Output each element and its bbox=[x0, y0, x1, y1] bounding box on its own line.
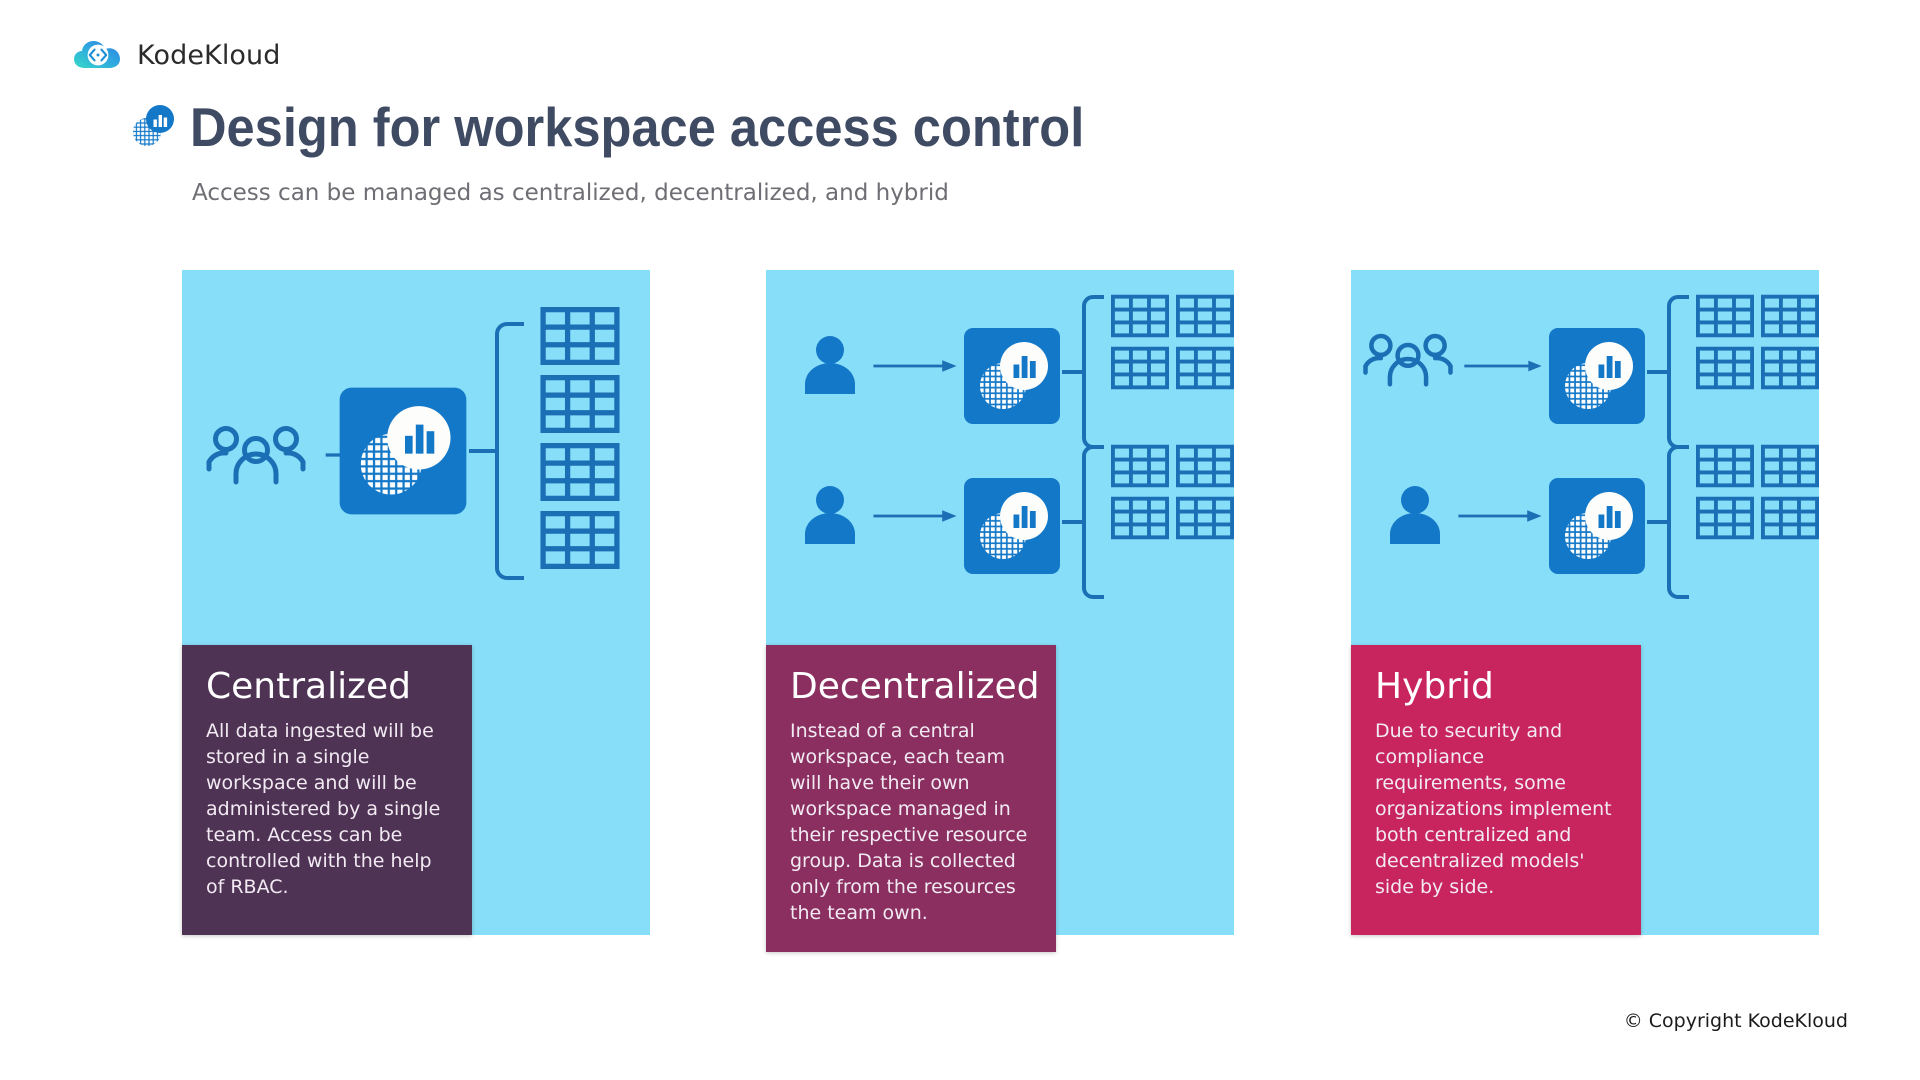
table-icon bbox=[1763, 349, 1817, 388]
brand-name: KodeKloud bbox=[137, 40, 281, 71]
table-icon bbox=[1763, 297, 1817, 336]
card-body: Due to security and compliance requireme… bbox=[1375, 718, 1617, 900]
fan-out-bracket bbox=[469, 324, 524, 578]
flow-arrow-icon bbox=[1464, 361, 1541, 372]
fan-out-bracket bbox=[1647, 447, 1689, 597]
fan-out-bracket bbox=[1062, 297, 1104, 447]
user-group-icon bbox=[209, 429, 303, 483]
brand-logo-group: KodeKloud bbox=[72, 32, 281, 78]
single-user-icon bbox=[1390, 486, 1440, 544]
flow-arrow-icon bbox=[1458, 510, 1541, 521]
page-title-row: Design for workspace access control bbox=[128, 97, 1162, 157]
table-icon bbox=[543, 446, 617, 499]
table-icon bbox=[1178, 499, 1232, 538]
single-user-icon bbox=[805, 336, 855, 394]
info-card-hybrid: Hybrid Due to security and compliance re… bbox=[1351, 645, 1641, 935]
page-subtitle: Access can be managed as centralized, de… bbox=[192, 180, 949, 206]
workspace-tile-icon bbox=[964, 478, 1060, 574]
table-icon bbox=[1178, 447, 1232, 486]
workspace-tile-icon bbox=[1549, 328, 1645, 424]
table-icon bbox=[543, 310, 617, 363]
table-icon bbox=[1698, 499, 1752, 538]
info-card-centralized: Centralized All data ingested will be st… bbox=[182, 645, 472, 935]
table-icon bbox=[543, 514, 617, 567]
single-user-icon bbox=[805, 486, 855, 544]
card-title: Decentralized bbox=[790, 666, 1032, 708]
table-icon bbox=[1178, 349, 1232, 388]
flow-arrow-icon bbox=[873, 360, 956, 371]
workspace-tile-icon bbox=[340, 388, 467, 515]
table-icon bbox=[543, 378, 617, 431]
kodekloud-cloud-code-logo-icon bbox=[72, 35, 124, 75]
user-group-icon bbox=[1366, 336, 1451, 384]
table-icon bbox=[1763, 499, 1817, 538]
table-icon bbox=[1178, 297, 1232, 336]
log-analytics-workspace-icon bbox=[128, 102, 178, 152]
card-title: Centralized bbox=[206, 666, 448, 708]
workspace-tile-icon bbox=[964, 328, 1060, 424]
diagram-decentralized bbox=[766, 270, 1234, 660]
table-icon bbox=[1698, 447, 1752, 486]
table-icon bbox=[1763, 447, 1817, 486]
card-body: Instead of a central workspace, each tea… bbox=[790, 718, 1032, 926]
table-icon bbox=[1113, 499, 1167, 538]
diagram-hybrid bbox=[1351, 270, 1819, 660]
page-title: Design for workspace access control bbox=[190, 97, 1084, 157]
fan-out-bracket bbox=[1647, 297, 1689, 447]
copyright-footer: © Copyright KodeKloud bbox=[1624, 1010, 1848, 1032]
card-body: All data ingested will be stored in a si… bbox=[206, 718, 448, 900]
info-card-decentralized: Decentralized Instead of a central works… bbox=[766, 645, 1056, 952]
workspace-tile-icon bbox=[1549, 478, 1645, 574]
columns-container: Centralized All data ingested will be st… bbox=[0, 270, 1920, 970]
card-title: Hybrid bbox=[1375, 666, 1617, 708]
table-icon bbox=[1113, 447, 1167, 486]
table-icon bbox=[1698, 349, 1752, 388]
table-icon bbox=[1113, 349, 1167, 388]
diagram-centralized bbox=[182, 270, 650, 660]
table-icon bbox=[1113, 297, 1167, 336]
table-icon bbox=[1698, 297, 1752, 336]
flow-arrow-icon bbox=[873, 510, 956, 521]
fan-out-bracket bbox=[1062, 447, 1104, 597]
